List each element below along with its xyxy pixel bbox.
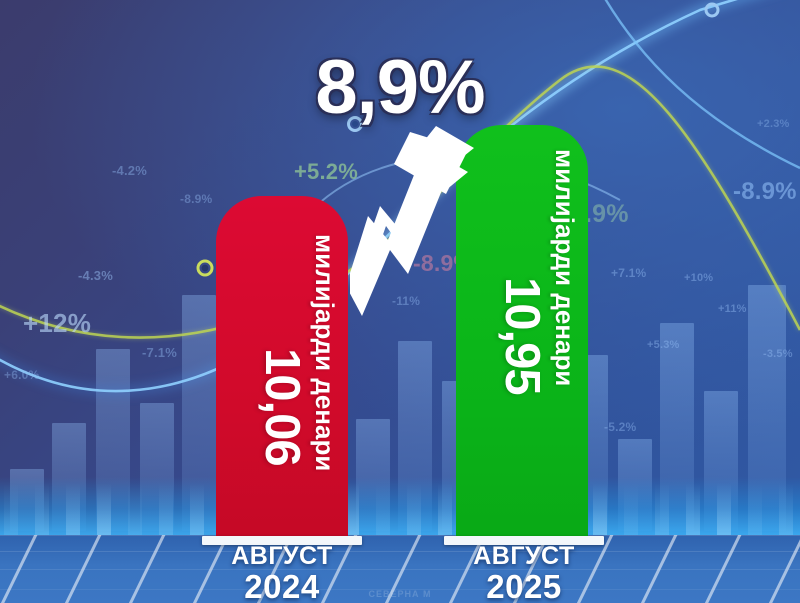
- horizon-stripe: [779, 483, 793, 535]
- infographic-canvas: -4.2%-8.9%-4.3%+12%-7.1%+6.0%+5.2%-8.9%-…: [0, 0, 800, 603]
- horizon-stripe: [593, 483, 607, 535]
- horizon-stripe: [748, 483, 762, 535]
- horizon-stripe: [66, 483, 80, 535]
- bar-value-2024: 10,06: [254, 348, 310, 466]
- horizon-stripe: [4, 483, 18, 535]
- horizon-glow: [0, 477, 800, 535]
- horizon-stripe: [128, 483, 142, 535]
- bar-unit-2025: милијарди денари: [549, 149, 580, 386]
- bar-unit-2024: милијарди денари: [309, 234, 340, 471]
- horizon-stripe: [376, 483, 390, 535]
- bar-august-2024[interactable]: 10,06 милијарди денари: [216, 196, 348, 537]
- horizon-stripe: [190, 483, 204, 535]
- horizon-stripe: [686, 483, 700, 535]
- axis-month-2024: АВГУСТ: [192, 544, 372, 570]
- horizon-stripe: [407, 483, 421, 535]
- horizon-stripe: [717, 483, 731, 535]
- horizon-stripe: [159, 483, 173, 535]
- axis-month-2025: АВГУСТ: [434, 544, 614, 570]
- horizon-stripe: [438, 483, 452, 535]
- bar-value-2025: 10,95: [494, 277, 550, 395]
- watermark-text: СЕВЕРНА М: [0, 589, 800, 599]
- floor-horizontal-line: [0, 535, 800, 536]
- horizon-stripe: [655, 483, 669, 535]
- horizon-stripe: [35, 483, 49, 535]
- growth-arrow-icon: [350, 120, 480, 320]
- floor-horizontal-line: [0, 551, 800, 552]
- horizon-stripe: [97, 483, 111, 535]
- horizon-stripe: [624, 483, 638, 535]
